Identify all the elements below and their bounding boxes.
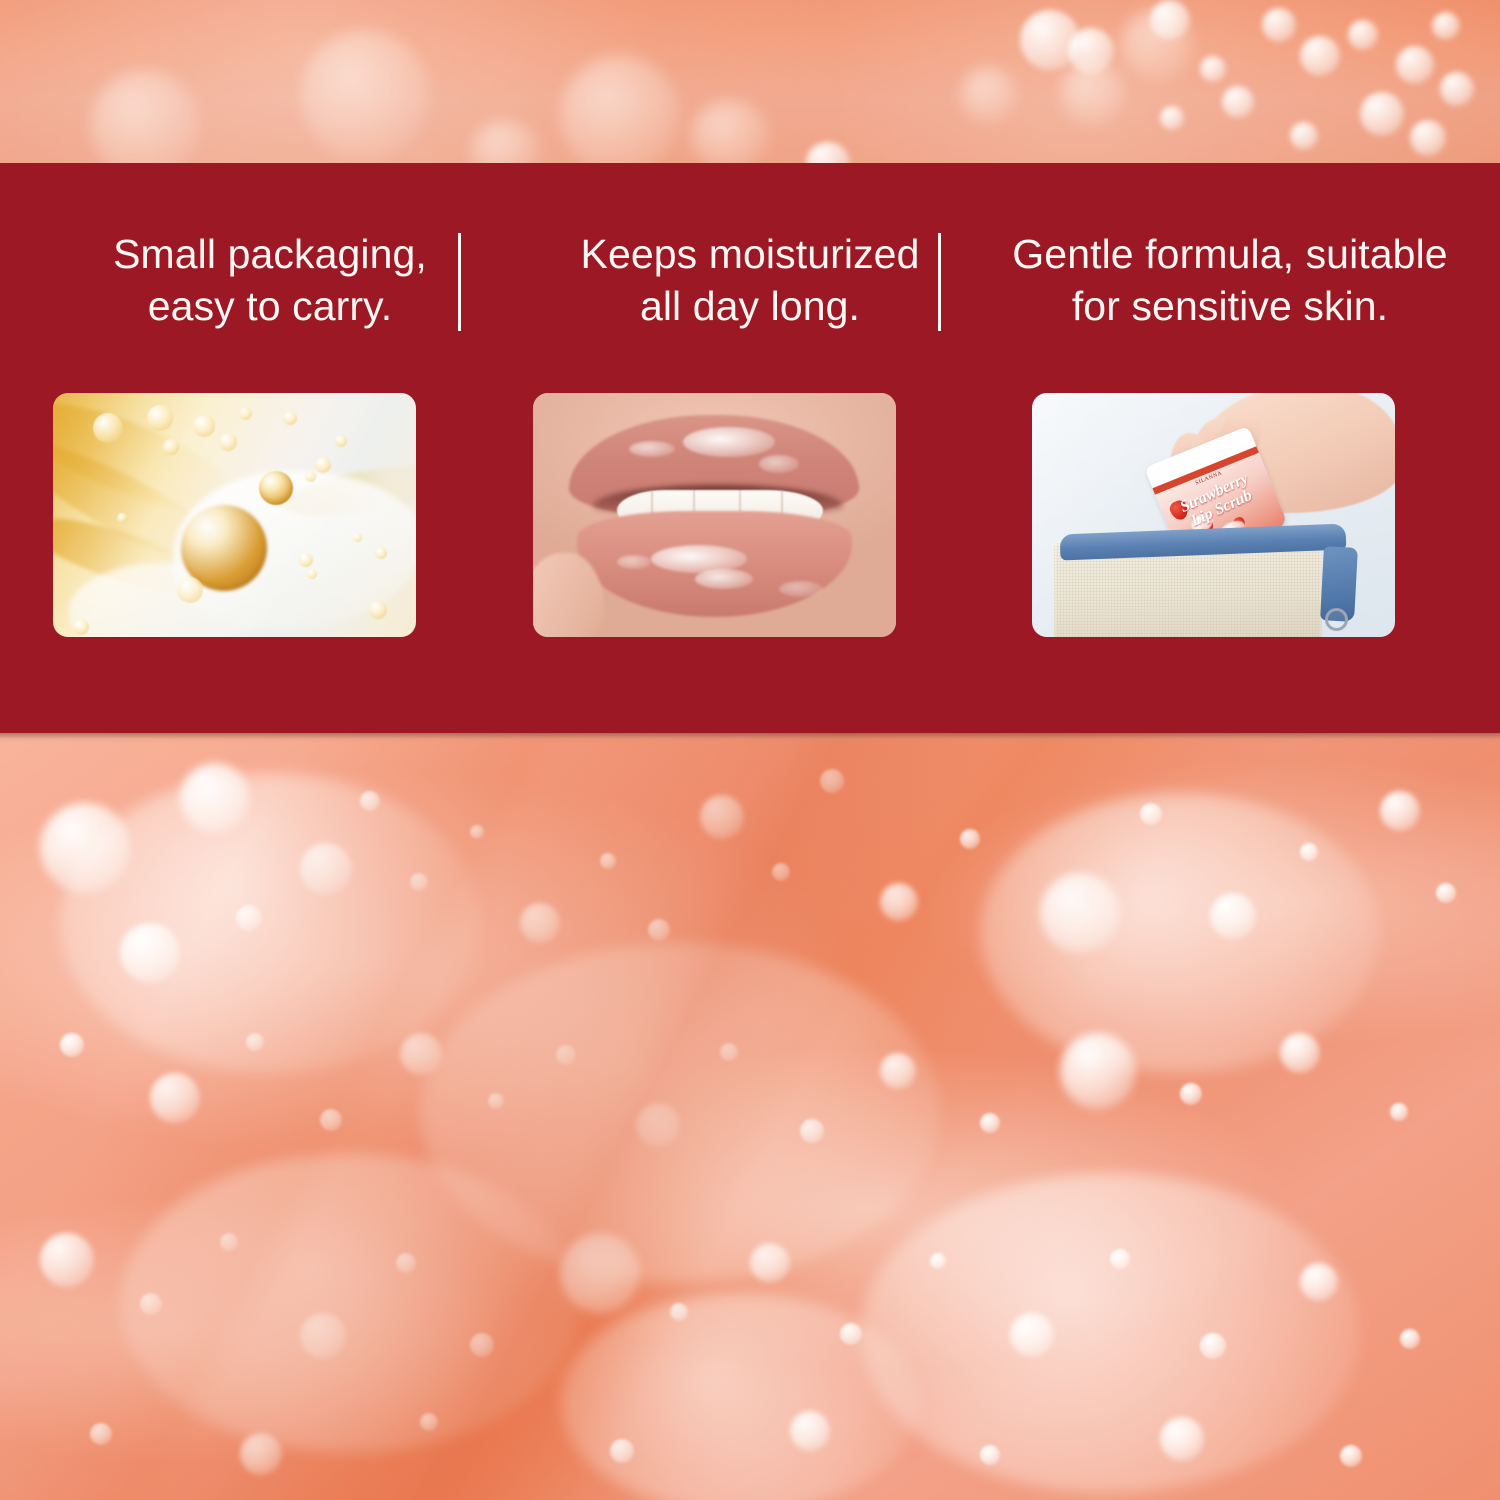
bokeh-highlight (1020, 10, 1080, 70)
bokeh-highlight (1200, 56, 1226, 82)
scrub-granule (1300, 843, 1318, 861)
bokeh-highlight (1060, 60, 1126, 126)
bokeh-highlight (470, 120, 540, 163)
scrub-granule (520, 903, 560, 943)
feature-title: Small packaging, easy to carry. (50, 228, 490, 336)
bokeh-highlight (300, 30, 430, 160)
scrub-granule (420, 1413, 438, 1431)
scrub-cluster (980, 793, 1380, 1073)
oil-droplet (177, 577, 203, 603)
scrub-granule (772, 863, 790, 881)
scrub-granule (610, 1439, 634, 1463)
scrub-granule (150, 1073, 200, 1123)
feature-thumbnail-oil (53, 393, 416, 637)
oil-droplet (375, 547, 387, 559)
oil-droplet (219, 433, 237, 451)
scrub-granule (820, 769, 844, 793)
bokeh-highlight (1160, 106, 1184, 130)
scrub-granule (600, 853, 616, 869)
scrub-granule (880, 883, 918, 921)
scrub-granule (1040, 873, 1120, 953)
feature-thumbnail-pouch: SILANNA Strawberry Lip Scrub (1032, 393, 1395, 637)
bokeh-highlight (1432, 12, 1460, 40)
scrub-granule (1200, 1333, 1226, 1359)
scrub-granule (1436, 883, 1456, 903)
scrub-granule (800, 1119, 824, 1143)
scrub-granule (320, 1109, 342, 1131)
lip-gloss-highlight (683, 427, 775, 457)
lip-gloss-highlight (617, 555, 651, 569)
bokeh-highlight (960, 66, 1018, 124)
scrub-granule (360, 791, 380, 811)
oil-droplet (163, 439, 179, 455)
bokeh-highlight (1120, 8, 1194, 82)
feature-item-1: Small packaging, easy to carry. (30, 228, 510, 336)
oil-droplet (299, 553, 313, 567)
scrub-granule (560, 1233, 640, 1313)
oil-droplet (73, 619, 89, 635)
bokeh-highlight (1410, 120, 1446, 156)
scrub-granule (410, 873, 428, 891)
bokeh-highlight (1262, 8, 1296, 42)
photo-banner-seam (0, 733, 1500, 743)
scrub-granule (648, 919, 670, 941)
hero-scrub-photo (0, 733, 1500, 1500)
lip-gloss-highlight (779, 581, 823, 597)
scrub-granule (980, 1445, 1000, 1465)
scrub-granule (488, 1093, 504, 1109)
bokeh-highlight (690, 100, 770, 163)
feature-title: Keeps moisturized all day long. (530, 228, 970, 336)
bokeh-highlight (1396, 46, 1434, 84)
feature-list: Small packaging, easy to carry. Keeps mo… (30, 228, 1470, 336)
scrub-granule (300, 1313, 346, 1359)
bokeh-highlight (1290, 122, 1318, 150)
scrub-granule (140, 1293, 162, 1315)
bokeh-highlight (1300, 36, 1340, 76)
oil-droplet (283, 411, 297, 425)
scrub-granule (90, 1423, 112, 1445)
scrub-granule (40, 803, 130, 893)
bokeh-highlight (90, 70, 200, 163)
oil-droplet (305, 471, 316, 482)
scrub-granule (246, 1033, 264, 1051)
scrub-granule (1110, 1249, 1130, 1269)
scrub-granule (1340, 1445, 1362, 1467)
scrub-granule (240, 1433, 282, 1475)
bokeh-highlight (1068, 28, 1114, 74)
bokeh-highlight (1150, 0, 1190, 40)
oil-droplet (315, 457, 331, 473)
scrub-cluster (420, 943, 940, 1283)
pouch-ring (1325, 608, 1348, 631)
bokeh-highlight (560, 55, 680, 163)
scrub-granule (1060, 1033, 1136, 1109)
oil-droplet (117, 513, 127, 523)
scrub-granule (1160, 1417, 1204, 1461)
oil-droplet (147, 405, 173, 431)
feature-title: Gentle formula, suitable for sensitive s… (1010, 228, 1450, 336)
scrub-granule (1380, 791, 1420, 831)
feature-banner: Small packaging, easy to carry. Keeps mo… (0, 163, 1500, 733)
feature-divider (938, 233, 941, 331)
scrub-granule (790, 1411, 830, 1451)
oil-droplet (307, 569, 317, 579)
scrub-granule (1390, 1103, 1408, 1121)
scrub-granule (840, 1323, 862, 1345)
scrub-cluster (560, 1293, 920, 1500)
product-marketing-poster: Small packaging, easy to carry. Keeps mo… (0, 0, 1500, 1500)
bokeh-highlight (1222, 86, 1254, 118)
oil-droplet (353, 533, 362, 542)
scrub-granule (220, 1233, 238, 1251)
scrub-granule (1400, 1329, 1420, 1349)
feature-thumbnail-lips (533, 393, 896, 637)
scrub-granule (880, 1053, 916, 1089)
scrub-granule (1300, 1263, 1338, 1301)
oil-droplet (93, 413, 123, 443)
scrub-granule (470, 825, 484, 839)
scrub-granule (930, 1253, 946, 1269)
scrub-granule (556, 1045, 576, 1065)
scrub-granule (1140, 803, 1162, 825)
canvas-pouch (1054, 525, 1354, 637)
scrub-granule (400, 1033, 442, 1075)
scrub-granule (180, 763, 250, 833)
feature-item-3: Gentle formula, suitable for sensitive s… (990, 228, 1470, 336)
scrub-granule (750, 1243, 790, 1283)
scrub-granule (396, 1253, 416, 1273)
oil-droplet (239, 407, 252, 420)
bokeh-highlight (806, 142, 850, 163)
scrub-granule (120, 923, 180, 983)
scrub-granule (670, 1303, 688, 1321)
feature-divider (458, 233, 461, 331)
scrub-granule (700, 795, 744, 839)
bokeh-highlight (1348, 20, 1378, 50)
oil-droplet (259, 471, 293, 505)
scrub-granule (1280, 1033, 1320, 1073)
scrub-granule (1010, 1313, 1054, 1357)
oil-droplet (369, 601, 387, 619)
scrub-granule (40, 1233, 94, 1287)
scrub-granule (720, 1043, 738, 1061)
feature-item-2: Keeps moisturized all day long. (510, 228, 990, 336)
scrub-cluster (860, 1173, 1360, 1493)
scrub-granule (960, 829, 980, 849)
lip-gloss-highlight (629, 441, 675, 457)
scrub-granule (636, 1103, 680, 1147)
scrub-granule (1180, 1083, 1202, 1105)
scrub-cluster (120, 1153, 580, 1453)
scrub-granule (470, 1333, 494, 1357)
bokeh-highlight (1440, 72, 1474, 106)
lip-gloss-highlight (759, 455, 799, 473)
oil-droplet (193, 415, 215, 437)
scrub-granule (300, 843, 352, 895)
lip-gloss-highlight (695, 569, 753, 589)
scrub-granule (60, 1033, 84, 1057)
oil-droplet (335, 435, 347, 447)
scrub-granule (980, 1113, 1000, 1133)
scrub-granule (1210, 893, 1256, 939)
scrub-granule (236, 905, 262, 931)
scrub-cluster (60, 773, 480, 1073)
bokeh-highlight (1360, 92, 1404, 136)
top-photo-band (0, 0, 1500, 163)
